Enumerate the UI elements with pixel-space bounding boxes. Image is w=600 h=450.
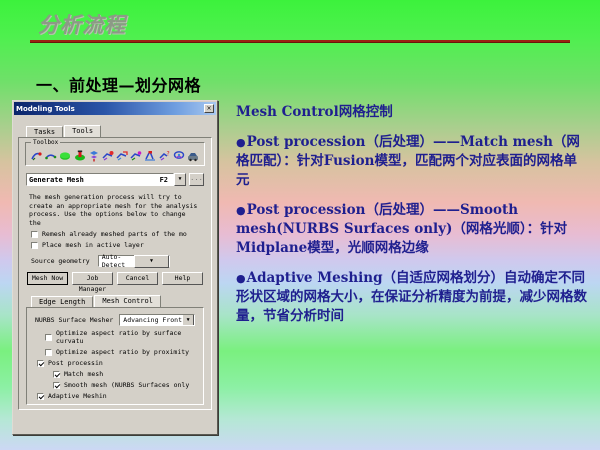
option-active-layer[interactable]: Place mesh in active layer — [31, 241, 207, 249]
close-icon[interactable]: × — [204, 104, 214, 113]
option-smooth-mesh-label: Smooth mesh (NURBS Surfaces only — [64, 381, 189, 389]
checkbox-post-processing[interactable] — [37, 360, 44, 367]
option-optimize-curvature-label: Optimize aspect ratio by surface curvatu — [56, 329, 201, 345]
content-heading: Mesh Control网格控制 — [236, 103, 588, 122]
mesh-export-icon[interactable] — [187, 150, 199, 162]
tab-tools[interactable]: Tools — [64, 125, 101, 137]
option-post-processing[interactable]: Post processin — [37, 359, 201, 367]
option-adaptive-meshing[interactable]: Adaptive Meshin — [37, 392, 201, 400]
source-geometry-select[interactable]: Auto-Detect ▼ — [98, 255, 170, 267]
dialog-titlebar[interactable]: Modeling Tools × — [14, 102, 216, 115]
source-geometry-value: Auto-Detect — [102, 253, 135, 269]
lower-tabs[interactable]: Edge Length Mesh Control — [31, 293, 207, 307]
nurbs-mesher-label: NURBS Surface Mesher — [35, 316, 113, 324]
tab-edge-length[interactable]: Edge Length — [31, 296, 93, 307]
solid-red-icon[interactable] — [74, 150, 86, 162]
content-paragraph-3: Adaptive Meshing（自适应网格划分）自动确定不同形状区域的网格大小… — [236, 269, 588, 326]
mesh-refine-icon[interactable] — [116, 150, 128, 162]
tools-panel: Toolbox ? — [18, 137, 212, 410]
mesh-query-icon[interactable]: ? — [159, 150, 171, 162]
command-name: Generate Mesh — [29, 176, 160, 184]
svg-text:?: ? — [166, 151, 169, 158]
checkbox-match-mesh[interactable] — [53, 371, 60, 378]
mesh-control-panel: NURBS Surface Mesher Advancing Front ▼ O… — [26, 307, 204, 405]
modeling-tools-dialog[interactable]: Modeling Tools × Tasks Tools Toolbox — [12, 100, 218, 435]
option-post-processing-label: Post processin — [48, 359, 103, 367]
content-text-block: Mesh Control网格控制 Post procession（后处理）——M… — [236, 103, 588, 337]
command-more-button[interactable]: ... — [189, 173, 204, 186]
mesh-repair-icon[interactable] — [173, 150, 185, 162]
option-optimize-proximity[interactable]: Optimize aspect ratio by proximity — [45, 348, 201, 356]
help-button[interactable]: Help — [162, 272, 203, 285]
content-paragraph-2: Post procession（后处理）——Smooth mesh(NURBS … — [236, 201, 588, 258]
option-remesh-label: Remesh already meshed parts of the mo — [42, 230, 187, 238]
content-paragraph-1: Post procession（后处理）——Match mesh（网格匹配）：针… — [236, 133, 588, 190]
option-optimize-curvature[interactable]: Optimize aspect ratio by surface curvatu — [45, 329, 201, 345]
source-geometry-label: Source geometry — [31, 257, 90, 265]
checkbox-remesh[interactable] — [31, 231, 38, 238]
surface-green-icon[interactable] — [59, 150, 71, 162]
command-shortcut: F2 — [160, 176, 171, 184]
toolbox-label: Toolbox — [31, 139, 60, 146]
option-adaptive-meshing-label: Adaptive Meshin — [48, 392, 107, 400]
tab-tasks[interactable]: Tasks — [26, 126, 63, 137]
mesh-node-icon[interactable] — [88, 150, 100, 162]
checkbox-adaptive-meshing[interactable] — [37, 393, 44, 400]
mesh-boundary-icon[interactable] — [102, 150, 114, 162]
checkbox-active-layer[interactable] — [31, 242, 38, 249]
nurbs-mesher-select[interactable]: Advancing Front ▼ — [119, 314, 195, 326]
dialog-button-row[interactable]: Mesh Now Job Manager Cancel Help — [27, 272, 203, 285]
title-block: 分析流程 — [30, 12, 570, 43]
option-active-layer-label: Place mesh in active layer — [42, 241, 144, 249]
chevron-down-icon[interactable]: ▼ — [134, 255, 169, 268]
option-remesh[interactable]: Remesh already meshed parts of the mo — [31, 230, 207, 238]
checkbox-smooth-mesh[interactable] — [53, 382, 60, 389]
cancel-button[interactable]: Cancel — [117, 272, 158, 285]
source-geometry-row[interactable]: Source geometry Auto-Detect ▼ — [31, 255, 207, 267]
option-match-mesh[interactable]: Match mesh — [53, 370, 201, 378]
chevron-down-icon[interactable]: ▼ — [182, 314, 194, 326]
toolbox-icon-strip[interactable]: ? — [29, 150, 201, 162]
dialog-title: Modeling Tools — [16, 105, 204, 113]
dialog-body: Tasks Tools Toolbox — [13, 116, 217, 410]
checkbox-optimize-proximity[interactable] — [45, 349, 52, 356]
command-row[interactable]: Generate Mesh F2 ▼ ... — [26, 173, 204, 186]
curve-tool-icon[interactable] — [31, 150, 43, 162]
checkbox-optimize-curvature[interactable] — [45, 334, 52, 341]
option-smooth-mesh[interactable]: Smooth mesh (NURBS Surfaces only — [53, 381, 201, 389]
job-manager-button[interactable]: Job Manager — [72, 272, 113, 285]
nurbs-mesher-value: Advancing Front — [123, 316, 182, 324]
page-title: 分析流程 — [30, 12, 570, 38]
mesh-now-button[interactable]: Mesh Now — [27, 272, 68, 285]
toolbox-group: Toolbox ? — [25, 142, 205, 166]
option-optimize-proximity-label: Optimize aspect ratio by proximity — [56, 348, 189, 356]
nurbs-mesher-row[interactable]: NURBS Surface Mesher Advancing Front ▼ — [35, 314, 201, 326]
chevron-down-icon[interactable]: ▼ — [174, 173, 186, 186]
section-subtitle: 一、前处理—划分网格 — [36, 72, 201, 96]
dialog-description: The mesh generation process will try to … — [29, 193, 201, 227]
option-match-mesh-label: Match mesh — [64, 370, 103, 378]
mesh-merge-icon[interactable] — [144, 150, 156, 162]
top-tabs[interactable]: Tasks Tools — [26, 123, 212, 137]
arc-tool-icon[interactable] — [45, 150, 57, 162]
title-divider — [30, 40, 570, 43]
mesh-edit-icon[interactable] — [130, 150, 142, 162]
command-combo[interactable]: Generate Mesh F2 — [26, 173, 174, 186]
tab-mesh-control[interactable]: Mesh Control — [94, 295, 161, 307]
slide-canvas: 分析流程 一、前处理—划分网格 Modeling Tools × Tasks T… — [0, 0, 600, 450]
